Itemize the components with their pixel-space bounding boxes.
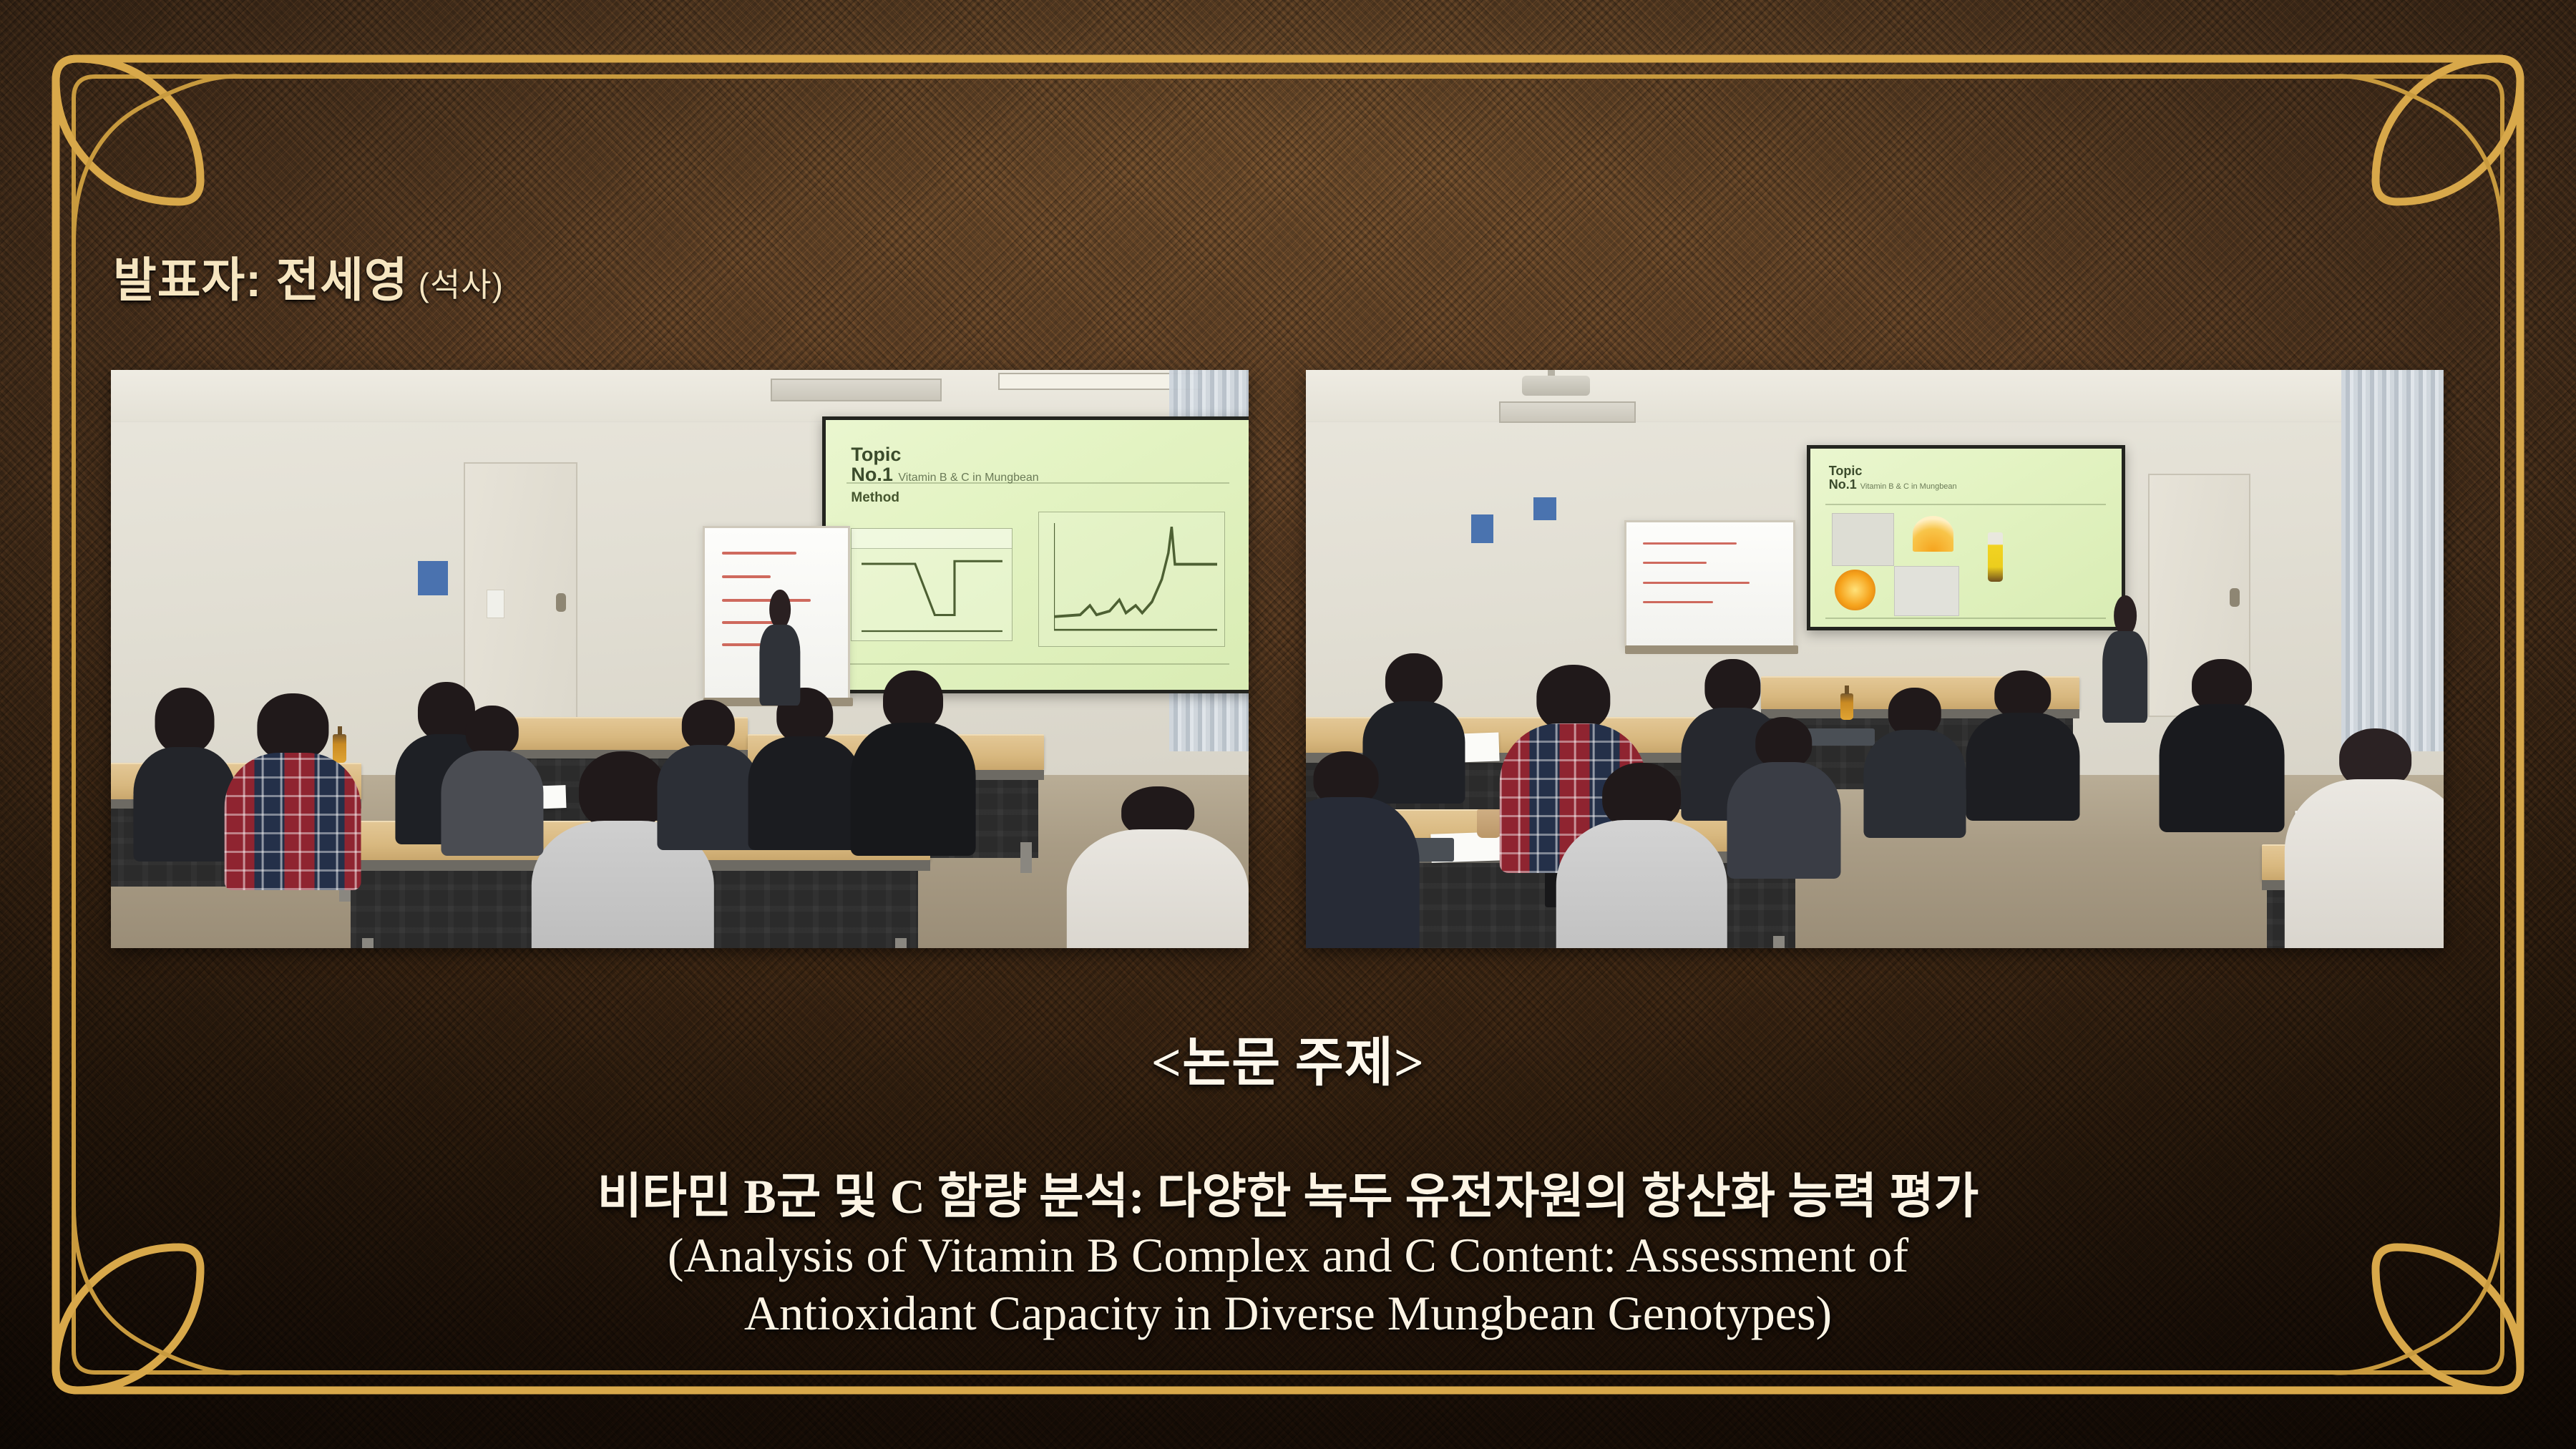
thesis-title-english-2: Antioxidant Capacity in Diverse Mungbean… bbox=[0, 1284, 2576, 1343]
attendee bbox=[1067, 786, 1249, 948]
attendee bbox=[134, 688, 236, 861]
thesis-title-block: 비타민 B군 및 C 함량 분석: 다양한 녹두 유전자원의 항산화 능력 평가… bbox=[0, 1168, 2576, 1343]
thesis-title-korean: 비타민 B군 및 C 함량 분석: 다양한 녹두 유전자원의 항산화 능력 평가 bbox=[0, 1168, 2576, 1226]
presentation-slide: 발표자: 전세영 (석사) Topic No.1 Vitamin B & C i… bbox=[0, 0, 2576, 1449]
whiteboard-tray bbox=[1625, 645, 1798, 654]
thesis-title-english-1: (Analysis of Vitamin B Complex and C Con… bbox=[0, 1226, 2576, 1285]
photo-seminar-room-left: Topic No.1 Vitamin B & C in Mungbean Met… bbox=[111, 370, 1249, 948]
attendee bbox=[1966, 670, 2079, 821]
window-curtain-right bbox=[2341, 370, 2444, 751]
slide-photo-orange-slice bbox=[1913, 516, 1953, 552]
wall-sign-blue bbox=[1533, 497, 1556, 520]
chart-header-bar bbox=[852, 529, 1012, 549]
presenter-figure bbox=[2102, 595, 2148, 723]
slide-rule-top bbox=[1825, 504, 2106, 505]
attendee bbox=[441, 706, 543, 856]
paper-cup bbox=[1477, 809, 1502, 838]
slide-photo-person-top bbox=[1832, 513, 1894, 567]
whiteboard bbox=[1624, 520, 1795, 648]
room-scene-left: Topic No.1 Vitamin B & C in Mungbean Met… bbox=[111, 370, 1249, 948]
presenter-name: 발표자: 전세영 bbox=[113, 242, 409, 311]
subject-heading: <논문 주제> bbox=[0, 1020, 2576, 1096]
slide-photo-person-bottom bbox=[1894, 566, 1959, 616]
ceiling-vent-icon bbox=[1499, 401, 1636, 422]
ceiling-projector bbox=[1522, 376, 1590, 395]
ceiling-vent-icon bbox=[771, 379, 942, 401]
slide-rule-top bbox=[847, 482, 1229, 484]
slide-section-label: Method bbox=[851, 490, 899, 506]
attendee bbox=[748, 688, 862, 849]
attendee bbox=[2160, 659, 2285, 832]
attendee bbox=[851, 670, 976, 856]
slide-photo-lemon bbox=[1835, 570, 1875, 610]
presenter-line: 발표자: 전세영 (석사) bbox=[113, 242, 504, 311]
attendee bbox=[2284, 728, 2444, 948]
slide-chart-gradient bbox=[851, 528, 1013, 642]
presenter-degree: (석사) bbox=[419, 259, 504, 306]
wall-sign-blue bbox=[1471, 514, 1494, 543]
projection-screen-left: Topic No.1 Vitamin B & C in Mungbean Met… bbox=[822, 416, 1249, 694]
ceiling bbox=[1306, 370, 2444, 422]
drink-bottle bbox=[1840, 693, 1853, 719]
slide-topic-heading: Topic No.1 Vitamin B & C in Mungbean bbox=[1829, 464, 1957, 492]
slide-topic-heading: Topic No.1 Vitamin B & C in Mungbean bbox=[851, 444, 1038, 485]
projection-screen-right: Topic No.1 Vitamin B & C in Mungbean bbox=[1807, 445, 2125, 630]
door-knob-icon bbox=[2230, 588, 2240, 607]
room-scene-right: Topic No.1 Vitamin B & C in Mungbean bbox=[1306, 370, 2444, 948]
photo-row: Topic No.1 Vitamin B & C in Mungbean Met… bbox=[111, 370, 2469, 948]
slide-topic-subtitle: Vitamin B & C in Mungbean bbox=[1860, 482, 1957, 491]
wall-sign-blue bbox=[418, 561, 447, 595]
presenter-figure bbox=[759, 590, 800, 706]
attendee bbox=[1863, 688, 1966, 838]
attendee bbox=[1727, 717, 1840, 879]
slide-photo-vitamin-bottle bbox=[1988, 532, 2004, 582]
attendee bbox=[225, 693, 361, 890]
attendee bbox=[1556, 763, 1727, 948]
attendee bbox=[657, 700, 759, 850]
slide-rule-bottom bbox=[847, 663, 1229, 665]
attendee bbox=[1306, 751, 1420, 948]
slide-chart-chromatogram bbox=[1038, 512, 1225, 647]
slide-rule-bottom bbox=[1825, 618, 2106, 619]
photo-seminar-room-right: Topic No.1 Vitamin B & C in Mungbean bbox=[1306, 370, 2444, 948]
wall-sign-white bbox=[487, 590, 504, 618]
door-knob-icon bbox=[556, 593, 566, 612]
